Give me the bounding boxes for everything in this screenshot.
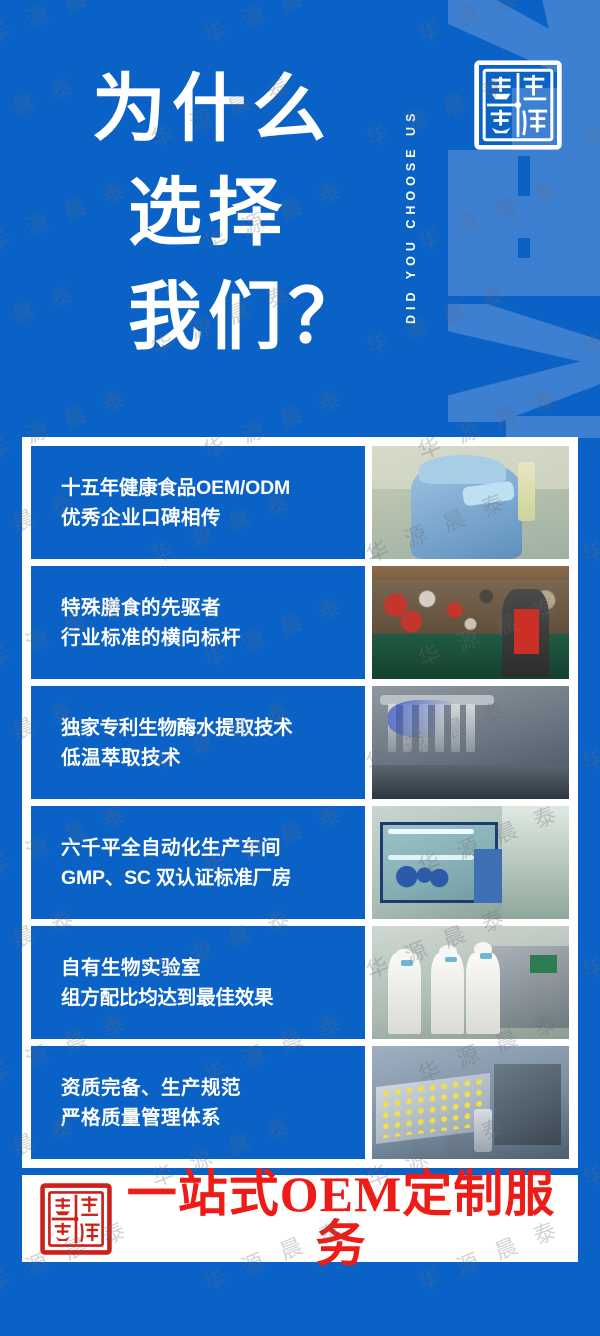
feature-card-6[interactable]: 资质完备、生产规范 严格质量管理体系 <box>31 1046 365 1159</box>
cleanroom-corridor-photo <box>372 806 569 919</box>
feature-card-3[interactable]: 独家专利生物酶水提取技术 低温萃取技术 <box>31 686 365 799</box>
poster-header: 为什么 选择 我们？ DID YOU CHOOSE US <box>0 0 600 437</box>
feature-2-line-1: 特殊膳食的先驱者 <box>61 593 357 623</box>
lab-technician-photo <box>372 446 569 559</box>
production-line-workers-photo <box>372 926 569 1039</box>
feature-card-1[interactable]: 十五年健康食品OEM/ODM 优秀企业口碑相传 <box>31 446 365 559</box>
watermark-text: 华 源 晨 泰 <box>576 1106 600 1193</box>
feature-6-line-2: 严格质量管理体系 <box>61 1103 357 1133</box>
filling-machine-photo <box>372 686 569 799</box>
features-frame: 十五年健康食品OEM/ODM 优秀企业口碑相传 特殊膳食的先驱者 行业标准的横向… <box>22 437 578 1168</box>
watermark-text: 华 源 晨 泰 <box>576 898 600 985</box>
feature-row: 十五年健康食品OEM/ODM 优秀企业口碑相传 <box>31 446 569 559</box>
footer-slogan-bar: 一站式OEM定制服务 <box>22 1175 578 1262</box>
feature-row: 自有生物实验室 组方配比均达到最佳效果 <box>31 926 569 1039</box>
feature-row: 六千平全自动化生产车间 GMP、SC 双认证标准厂房 <box>31 806 569 919</box>
title-line-3: 我们？ <box>92 266 392 370</box>
feature-3-line-1: 独家专利生物酶水提取技术 <box>61 713 357 743</box>
feature-card-4[interactable]: 六千平全自动化生产车间 GMP、SC 双认证标准厂房 <box>31 806 365 919</box>
feature-5-line-2: 组方配比均达到最佳效果 <box>61 983 357 1013</box>
feature-card-5[interactable]: 自有生物实验室 组方配比均达到最佳效果 <box>31 926 365 1039</box>
feature-row: 独家专利生物酶水提取技术 低温萃取技术 <box>31 686 569 799</box>
feature-6-line-1: 资质完备、生产规范 <box>61 1073 357 1103</box>
poster-root: 为什么 选择 我们？ DID YOU CHOOSE US <box>0 0 600 1336</box>
blister-packaging-photo <box>372 1046 569 1159</box>
feature-5-line-1: 自有生物实验室 <box>61 953 357 983</box>
watermark-text: 华 源 晨 泰 <box>576 690 600 777</box>
footer-slogan-text: 一站式OEM定制服务 <box>114 1169 578 1269</box>
company-seal-red-icon <box>38 1181 114 1257</box>
feature-card-2[interactable]: 特殊膳食的先驱者 行业标准的横向标杆 <box>31 566 365 679</box>
feature-1-line-1: 十五年健康食品OEM/ODM <box>61 473 357 503</box>
feature-2-line-2: 行业标准的横向标杆 <box>61 623 357 653</box>
watermark-text: 华 源 晨 泰 <box>576 482 600 569</box>
feature-row: 资质完备、生产规范 严格质量管理体系 <box>31 1046 569 1159</box>
conference-audience-photo <box>372 566 569 679</box>
page-title: 为什么 选择 我们？ <box>92 58 392 370</box>
feature-4-line-2: GMP、SC 双认证标准厂房 <box>61 863 357 893</box>
feature-row: 特殊膳食的先驱者 行业标准的横向标杆 <box>31 566 569 679</box>
vertical-english-tagline: DID YOU CHOOSE US <box>398 36 424 396</box>
company-seal-white-icon <box>471 56 565 154</box>
title-line-1: 为什么 <box>92 58 392 162</box>
feature-3-line-2: 低温萃取技术 <box>61 743 357 773</box>
feature-4-line-1: 六千平全自动化生产车间 <box>61 833 357 863</box>
feature-1-line-2: 优秀企业口碑相传 <box>61 503 357 533</box>
title-line-2: 选择 <box>92 162 392 266</box>
